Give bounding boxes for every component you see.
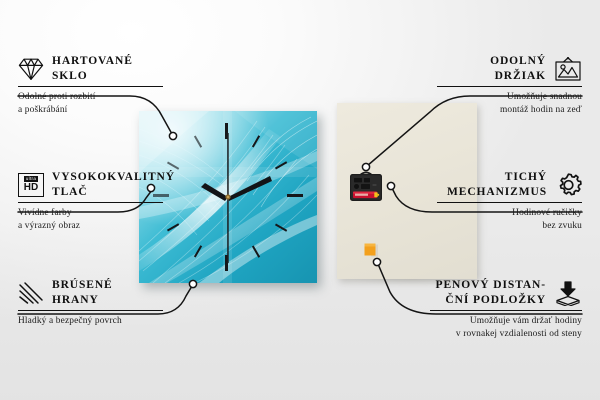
picture-hanger-icon xyxy=(554,56,582,82)
wire-endpoint-left-3 xyxy=(189,280,196,287)
ultra-hd-icon: ultra HD xyxy=(18,173,44,197)
feature-title-line: HARTOVANÉ xyxy=(52,55,133,67)
divider xyxy=(437,202,582,203)
feature-hd-print: ultra HD VYSOKOKVALITNÝTLAČ Vivídne farb… xyxy=(18,170,163,233)
divider xyxy=(18,202,163,203)
divider xyxy=(430,310,582,311)
feature-title-line: DRŽIAK xyxy=(495,70,546,82)
feature-title-line: ČNÍ PODLOŽKY xyxy=(445,294,546,306)
feature-silent-mechanism: TICHÝMECHANIZMUS Hodinové ručičkybez zvu… xyxy=(437,170,582,233)
feature-desc-line: Vivídne farby xyxy=(18,208,72,218)
feature-desc-line: Umožňuje vám držať hodiny xyxy=(470,316,582,326)
feature-desc-line: Hodinové ručičky xyxy=(512,208,582,218)
feature-title-line: VYSOKOKVALITNÝ xyxy=(52,171,175,183)
ultra-hd-main-label: HD xyxy=(24,183,38,193)
feature-desc-line: montáž hodin na zeď xyxy=(500,105,582,115)
product-infographic: HARTOVANÉSKLO Odolné proti rozbitía pošk… xyxy=(0,0,600,400)
feature-desc-line: Odolné proti rozbití xyxy=(18,92,95,102)
feature-desc-line: a poškrábání xyxy=(18,105,67,115)
feature-desc-line: Hladký a bezpečný povrch xyxy=(18,316,122,326)
wire-endpoint-right-3 xyxy=(373,258,380,265)
feature-desc-line: bez zvuku xyxy=(542,221,582,231)
feature-title-line: MECHANIZMUS xyxy=(447,186,547,198)
gear-icon xyxy=(555,172,582,198)
feature-foam-spacers: PENOVÝ DISTAN-ČNÍ PODLOŽKY Umožňuje vám … xyxy=(430,278,582,341)
foam-spacer-icon xyxy=(554,280,582,306)
divider xyxy=(18,310,163,311)
feature-title-line: SKLO xyxy=(52,70,88,82)
feature-desc-line: v rovnakej vzdialenosti od steny xyxy=(456,329,582,339)
feature-polished-edges: BRÚSENÉHRANY Hladký a bezpečný povrch xyxy=(18,278,163,328)
feature-durable-hanger: ODOLNÝDRŽIAK Umožňuje snadnoumontáž hodi… xyxy=(437,54,582,117)
wire-endpoint-left-1 xyxy=(169,132,176,139)
feature-title-line: PENOVÝ DISTAN- xyxy=(436,279,546,291)
polished-edges-icon xyxy=(18,281,44,305)
wire-endpoint-right-1 xyxy=(362,163,369,170)
feature-title-line: TICHÝ xyxy=(505,171,547,183)
divider xyxy=(437,86,582,87)
feature-desc-line: Umožňuje snadnou xyxy=(507,92,582,102)
wire-endpoint-right-2 xyxy=(387,182,394,189)
feature-title-line: HRANY xyxy=(52,294,99,306)
feature-title-line: TLAČ xyxy=(52,186,88,198)
feature-title-line: BRÚSENÉ xyxy=(52,279,113,291)
divider xyxy=(18,86,163,87)
feature-hardened-glass: HARTOVANÉSKLO Odolné proti rozbitía pošk… xyxy=(18,54,163,117)
feature-desc-line: a výrazný obraz xyxy=(18,221,80,231)
diamond-icon xyxy=(18,57,44,81)
feature-title-line: ODOLNÝ xyxy=(490,55,546,67)
